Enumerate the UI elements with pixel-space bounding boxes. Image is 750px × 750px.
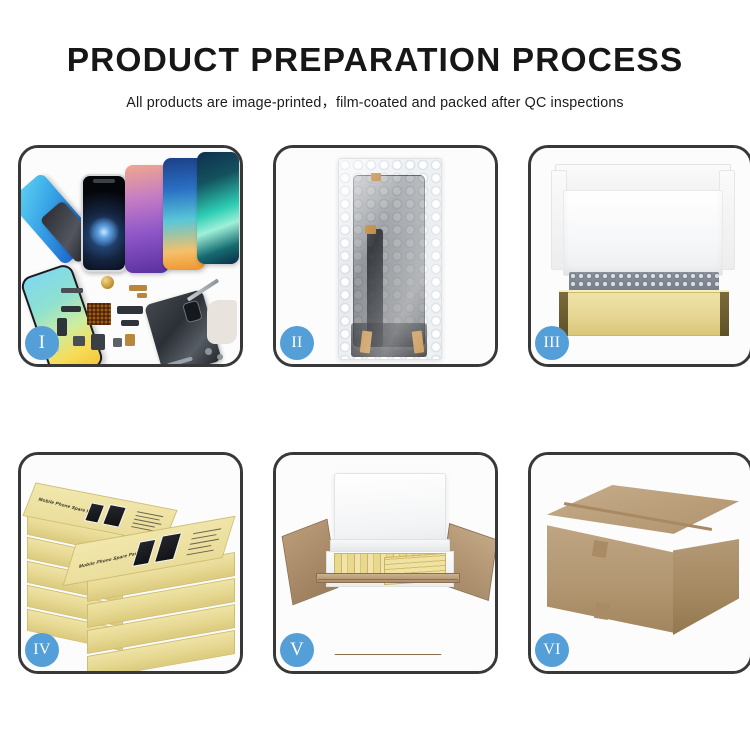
panel-numeral-badge: V — [280, 633, 314, 667]
product-preparation-infographic: PRODUCT PREPARATION PROCESS All products… — [0, 0, 750, 750]
spare-part-gold-flex — [129, 285, 147, 291]
spare-part-screw-a — [205, 348, 212, 355]
screen-burst-graphic — [88, 216, 120, 248]
open-shipping-carton — [288, 473, 488, 657]
box-print-textline — [188, 545, 211, 550]
product-parts-panel: I — [18, 145, 243, 367]
carton-front-face — [547, 523, 675, 633]
box-tray — [559, 292, 729, 336]
carton-tape-bottom — [594, 602, 610, 620]
box-print-textline — [193, 528, 221, 534]
box-print-textline — [186, 550, 213, 556]
styrofoam-lid — [334, 473, 446, 549]
sealed-carton-panel: VI — [528, 452, 750, 674]
spare-part-bar — [61, 288, 83, 293]
foam-sheet — [563, 190, 723, 276]
panel-numeral-badge: VI — [535, 633, 569, 667]
spare-part-flex-cable-a — [61, 306, 81, 312]
spare-part-flex-cable-d — [121, 320, 139, 326]
box-stack: Mobile Phone Spare Parts Mobile Phone Sp… — [25, 469, 241, 669]
spare-part-gold-clip — [125, 334, 135, 346]
panel-numeral-badge: I — [25, 326, 59, 360]
page-title: PRODUCT PREPARATION PROCESS — [0, 0, 750, 80]
spare-part-button — [113, 338, 122, 347]
spare-part-vibrator — [91, 334, 105, 350]
camera-module — [182, 300, 203, 324]
spare-part-chip-grid — [87, 303, 111, 325]
box-print-screen-a — [84, 502, 105, 523]
phone-screen-aqua — [197, 152, 239, 264]
spare-part-gold-small — [137, 293, 147, 298]
box-tray-edge-right — [720, 292, 729, 336]
panel-numeral-badge: IV — [25, 633, 59, 667]
carton-side-face — [673, 539, 739, 635]
carton-tape-top — [592, 540, 608, 558]
open-inner-box — [547, 164, 739, 344]
bubble-wrap-bag — [338, 158, 442, 360]
header: PRODUCT PREPARATION PROCESS All products… — [0, 0, 750, 112]
housing-strip — [167, 356, 193, 367]
gloved-hand — [207, 300, 237, 344]
page-subtitle: All products are image-printed，film-coat… — [0, 80, 750, 112]
box-print-screen-b — [102, 504, 127, 528]
spare-part-flex-cable-b — [57, 318, 67, 336]
spare-part-flex-cable-c — [117, 306, 143, 314]
box-print-textline — [190, 539, 219, 545]
inner-box-panel: III — [528, 145, 750, 367]
stacked-boxes-panel: Mobile Phone Spare Parts Mobile Phone Sp… — [18, 452, 243, 674]
panel-numeral-badge: II — [280, 326, 314, 360]
carton-body — [318, 579, 458, 655]
box-print-screen-b — [154, 532, 182, 563]
spare-part-screw-b — [217, 354, 223, 360]
panel-numeral-badge: III — [535, 326, 569, 360]
spare-part-bracket — [73, 336, 85, 346]
notch-shape — [93, 179, 115, 183]
spare-part-speaker-coin — [101, 276, 114, 289]
plastic-gloss-overlay — [339, 159, 441, 359]
bubble-wrap-panel: II — [273, 145, 498, 367]
styrofoam-carton-panel: V — [273, 452, 498, 674]
phone-front-glass-black — [81, 174, 127, 272]
sealed-shipping-carton — [547, 485, 739, 641]
